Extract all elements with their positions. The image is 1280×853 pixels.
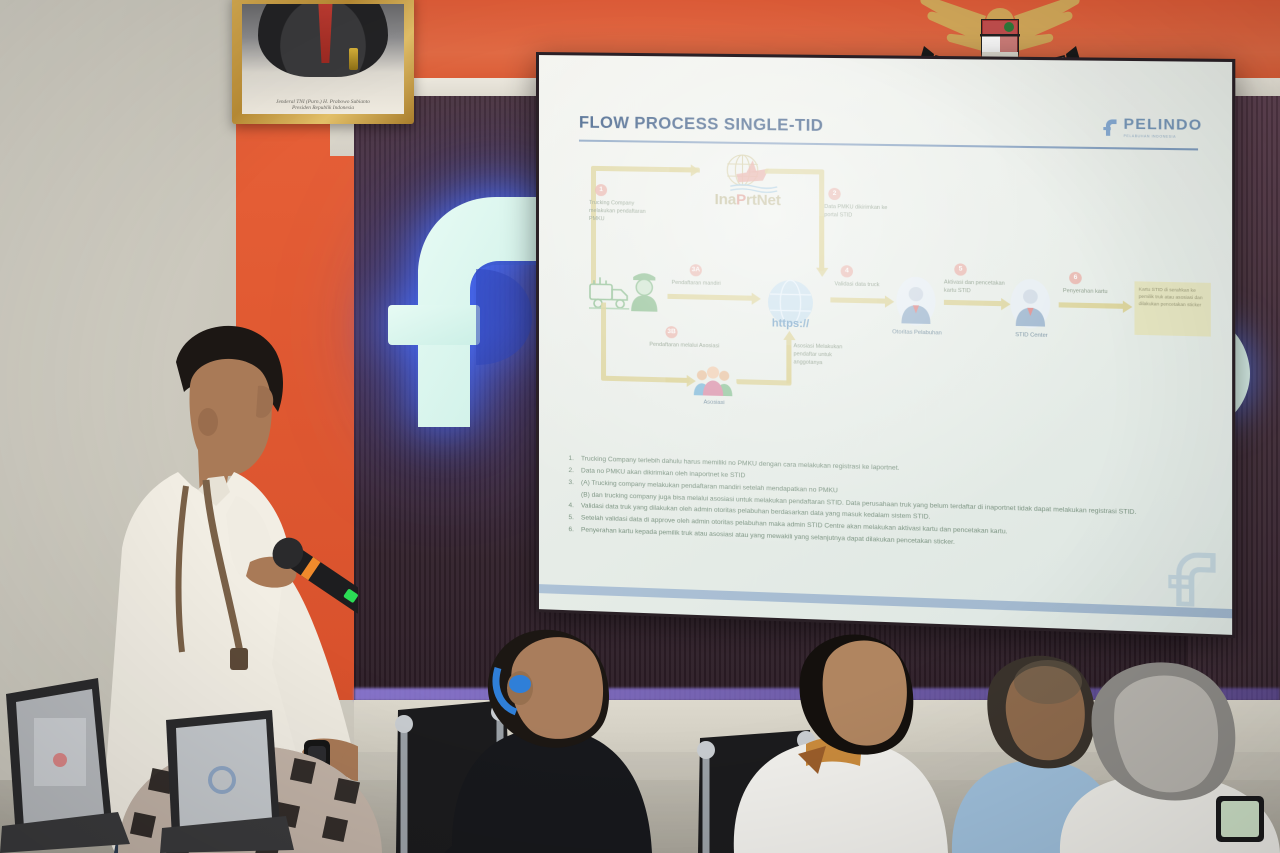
otoritas-pelabuhan-caption: Otoritas Pelabuhan — [884, 329, 950, 338]
arrow-elbow-asosiasi-to-portal — [736, 344, 791, 386]
note-num-2: 2. — [561, 466, 574, 477]
stid-card-note-box: Kartu STID di serahkan ke pemilik truk a… — [1134, 281, 1210, 336]
step-badge-6: 6 — [1069, 272, 1082, 285]
arrow-up-to-portal — [786, 339, 791, 384]
step-badge-2: 2 — [828, 188, 840, 200]
arrow-into-inaportnet — [670, 167, 692, 172]
asosiasi-group-icon — [692, 363, 735, 398]
president-portrait-frame: Jenderal TNI (Purn.) H. Prabowo Subianto… — [232, 0, 414, 124]
step-label-2: Data PMKU dikirimkan ke portal STID — [824, 204, 894, 221]
photo-scene: Jenderal TNI (Purn.) H. Prabowo Subianto… — [0, 0, 1280, 853]
pelindo-p-lightbox-icon — [384, 165, 560, 437]
step-badge-3b: 3B — [665, 326, 677, 338]
presentation-slide: FLOW PROCESS SINGLE-TID PELINDO PELABUHA… — [539, 55, 1232, 635]
arrow-into-asosiasi — [665, 377, 687, 383]
step-badge-4: 4 — [841, 265, 853, 277]
step-badge-1: 1 — [595, 184, 607, 196]
step-label-3a: Pendaftaran mandiri — [672, 280, 749, 290]
note-num-5: 5. — [561, 513, 574, 524]
step-badge-5: 5 — [954, 263, 966, 276]
step-label-6: Penyerahan kartu — [1063, 288, 1122, 297]
step-label-4: Validasi data truck — [835, 281, 899, 290]
portrait-lapel-pin — [349, 48, 358, 70]
step-badge-3a: 3A — [690, 264, 702, 276]
step-label-5: Aktivasi dan pencetakan kartu STID — [944, 279, 1013, 296]
step-label-1: Trucking Company melakukan pendaftaran P… — [589, 200, 655, 225]
note-num-1: 1. — [561, 454, 574, 465]
arrow-down-to-portal — [819, 216, 824, 269]
note-num-3b — [561, 489, 574, 500]
svg-text:https://: https:// — [772, 317, 809, 330]
asosiasi-caption: Asosiasi — [682, 399, 747, 408]
asosiasi-note: Asosiasi Melakukan pendaftar untuk anggo… — [794, 343, 853, 368]
title-underline — [579, 140, 1198, 150]
note-num-3: 3. — [561, 477, 574, 488]
pelindo-brand-logo: PELINDO PELABUHAN INDONESIA — [1102, 116, 1202, 139]
stid-center-avatar-icon — [1011, 279, 1051, 329]
note-num-4: 4. — [561, 501, 574, 512]
stid-portal-globe-icon: https:// — [759, 274, 822, 338]
stid-center-caption: STID Center — [998, 332, 1065, 341]
slide-title: FLOW PROCESS SINGLE-TID — [579, 114, 823, 136]
otoritas-pelabuhan-avatar-icon — [896, 276, 935, 326]
note-num-6: 6. — [561, 525, 574, 536]
projection-screen: FLOW PROCESS SINGLE-TID PELINDO PELABUHA… — [536, 52, 1235, 638]
arrow-elbow-inaportnet-to-portal — [765, 169, 824, 271]
portrait-caption-line1: Jenderal TNI (Purn.) H. Prabowo Subianto — [242, 99, 404, 106]
slide-notes-list: 1. Trucking Company terlebih dahulu haru… — [561, 454, 1204, 559]
portrait-caption-line2: Presiden Republik Indonesia — [242, 105, 404, 112]
pelindo-tagline: PELABUHAN INDONESIA — [1124, 134, 1203, 139]
arrow-portal-to-otoritas — [830, 297, 886, 303]
arrow-otoritas-to-stid — [944, 300, 1002, 306]
pelindo-wordmark: PELINDO — [1124, 116, 1203, 132]
arrow-stid-to-note — [1059, 302, 1124, 309]
audience-row — [0, 560, 1280, 853]
flow-diagram: InaPrtNet 1 Trucking Company melakukan p… — [539, 151, 1232, 471]
portrait-caption: Jenderal TNI (Purn.) H. Prabowo Subianto… — [242, 99, 404, 113]
pelindo-mark-icon — [1102, 118, 1118, 137]
arrow-mandiri-to-portal — [667, 294, 752, 301]
